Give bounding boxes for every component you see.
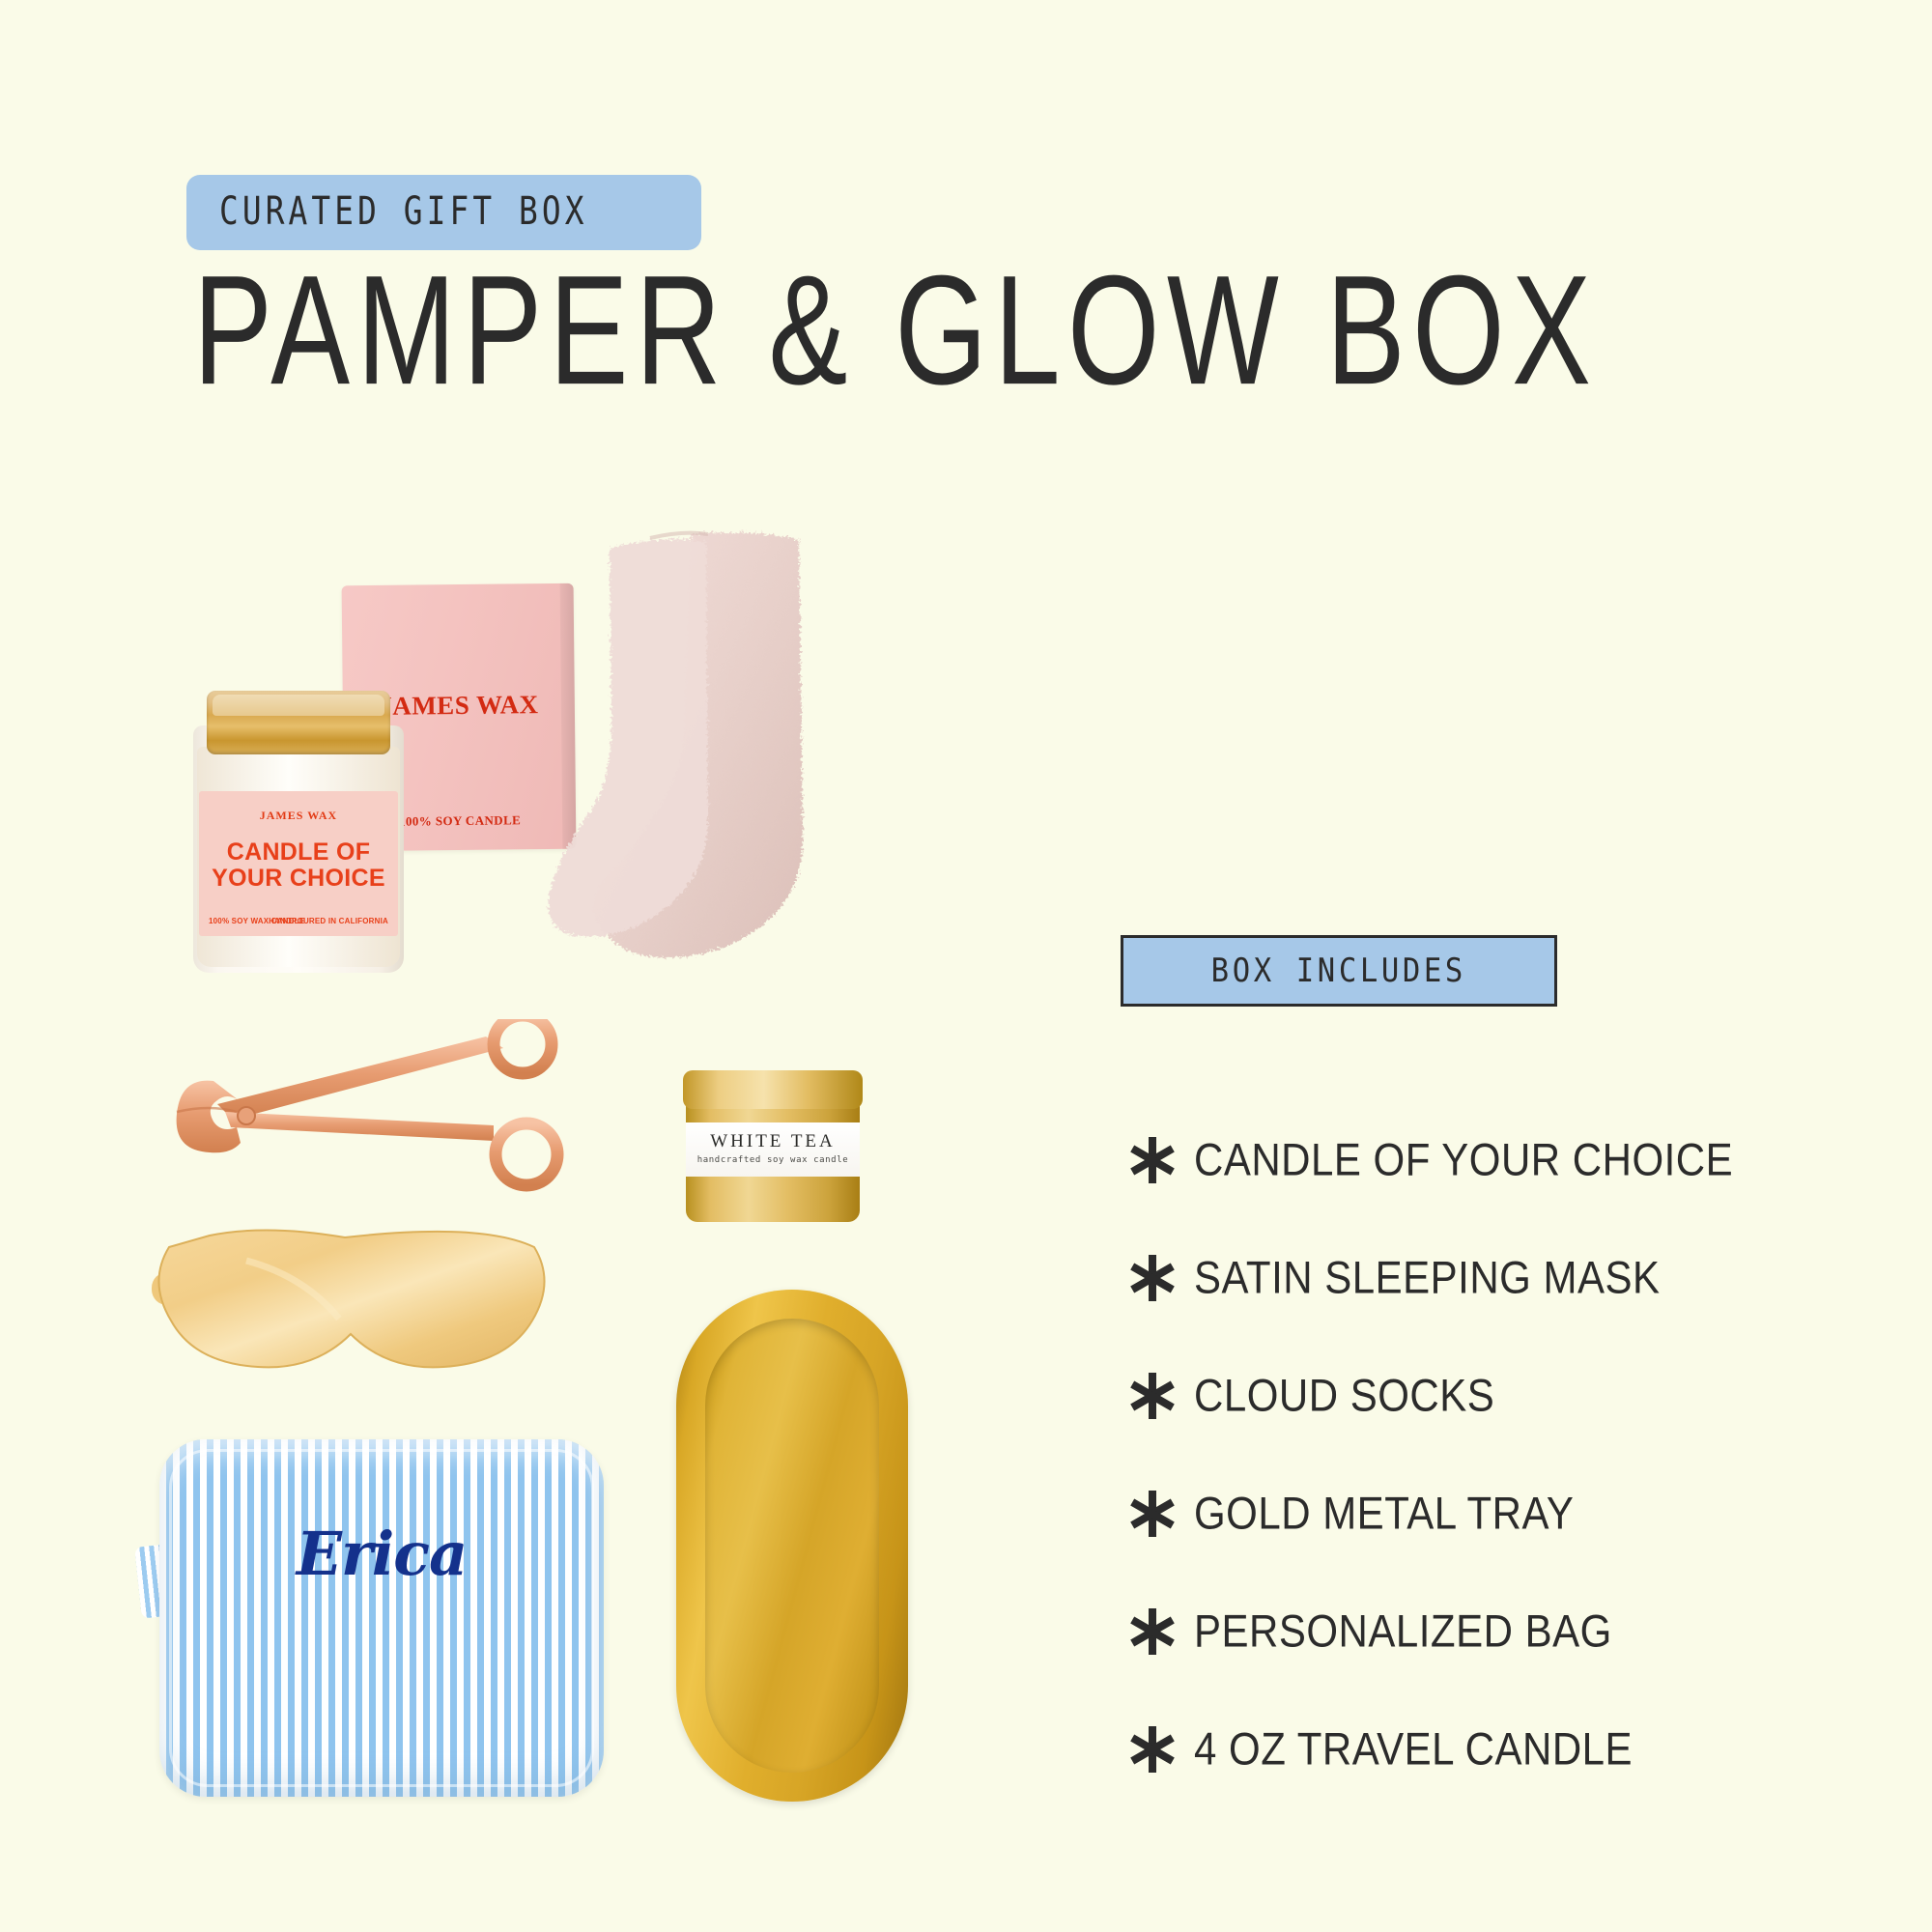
wick-trimmer-shape — [177, 1019, 557, 1185]
box-includes-heading: BOX INCLUDES — [1121, 935, 1557, 1007]
list-item: 4 OZ TRAVEL CANDLE — [1111, 1690, 1884, 1808]
candle-jar-lid — [207, 691, 390, 754]
gold-metal-tray-basin — [705, 1319, 879, 1773]
list-item-label: CANDLE OF YOUR CHOICE — [1194, 1134, 1733, 1186]
cloud-socks-shape — [549, 532, 803, 957]
travel-candle-tin: WHITE TEA handcrafted soy wax candle — [686, 1072, 860, 1222]
eyebrow-badge-label: CURATED GIFT BOX — [219, 192, 588, 231]
candle-jar-brand: JAMES WAX — [199, 809, 398, 823]
gold-metal-tray — [676, 1290, 908, 1802]
asterisk-icon — [1111, 1606, 1194, 1657]
list-item-label: SATIN SLEEPING MASK — [1194, 1252, 1661, 1304]
asterisk-icon — [1111, 1489, 1194, 1539]
travel-candle-tin-label: WHITE TEA handcrafted soy wax candle — [686, 1122, 860, 1177]
list-item-label: CLOUD SOCKS — [1194, 1370, 1494, 1422]
list-item-label: 4 OZ TRAVEL CANDLE — [1194, 1723, 1633, 1776]
list-item-label: GOLD METAL TRAY — [1194, 1488, 1574, 1540]
asterisk-icon — [1111, 1135, 1194, 1185]
asterisk-icon — [1111, 1724, 1194, 1775]
candle-jar-label: JAMES WAX CANDLE OF YOUR CHOICE 100% SOY… — [199, 791, 398, 936]
travel-candle-tin-lid — [683, 1070, 863, 1109]
candle-jar-headline-line2: YOUR CHOICE — [199, 866, 398, 892]
gift-box-promo-page: CURATED GIFT BOX PAMPER & GLOW BOX JAMES… — [0, 0, 1932, 1932]
list-item-label: PERSONALIZED BAG — [1194, 1605, 1612, 1658]
asterisk-icon — [1111, 1371, 1194, 1421]
list-item: CLOUD SOCKS — [1111, 1337, 1884, 1455]
list-item: GOLD METAL TRAY — [1111, 1455, 1884, 1573]
list-item: CANDLE OF YOUR CHOICE — [1111, 1101, 1884, 1219]
list-item: PERSONALIZED BAG — [1111, 1573, 1884, 1690]
candle-jar-footer-right: HANDPOURED IN CALIFORNIA — [269, 917, 388, 925]
satin-sleeping-mask-shape — [152, 1230, 545, 1367]
candle-jar-headline: CANDLE OF YOUR CHOICE — [199, 839, 398, 892]
travel-candle-scent: WHITE TEA — [686, 1131, 860, 1152]
personalized-bag-monogram: Erica — [159, 1519, 604, 1589]
cloud-socks — [546, 526, 865, 1063]
candle-jar-headline-line1: CANDLE OF — [199, 839, 398, 866]
box-includes-list: CANDLE OF YOUR CHOICESATIN SLEEPING MASK… — [1111, 1101, 1884, 1808]
wick-trimmer — [150, 1019, 575, 1227]
page-title: PAMPER & GLOW BOX — [193, 249, 1598, 412]
personalized-bag-body — [159, 1439, 604, 1797]
personalized-bag: Erica — [159, 1439, 604, 1797]
list-item: SATIN SLEEPING MASK — [1111, 1219, 1884, 1337]
travel-candle-caption: handcrafted soy wax candle — [686, 1155, 860, 1165]
satin-sleeping-mask — [150, 1222, 546, 1391]
candle-jar: JAMES WAX CANDLE OF YOUR CHOICE 100% SOY… — [193, 691, 404, 973]
eyebrow-badge: CURATED GIFT BOX — [186, 175, 701, 250]
box-includes-heading-label: BOX INCLUDES — [1211, 952, 1466, 990]
asterisk-icon — [1111, 1253, 1194, 1303]
